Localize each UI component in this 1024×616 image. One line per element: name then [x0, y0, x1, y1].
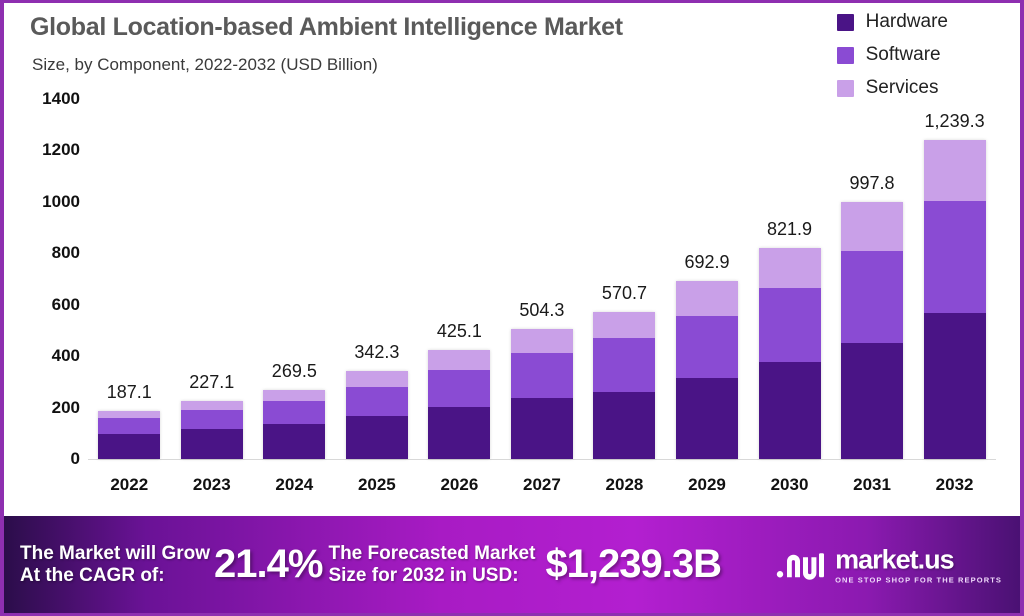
bar-group[interactable]: 997.8: [841, 99, 903, 459]
x-axis-label: 2025: [346, 475, 408, 495]
brand-name: market.us: [835, 546, 1002, 573]
bar-total-label: 692.9: [684, 252, 729, 273]
x-axis-label: 2027: [511, 475, 573, 495]
bar-total-label: 187.1: [107, 382, 152, 403]
bar-segment-hardware[interactable]: [98, 434, 160, 459]
bar-segment-services[interactable]: [759, 248, 821, 288]
bar-segment-software[interactable]: [841, 251, 903, 342]
y-axis-tick: 600: [14, 295, 80, 315]
bar-segment-hardware[interactable]: [676, 378, 738, 459]
x-axis-label: 2023: [181, 475, 243, 495]
bar-group[interactable]: 821.9: [759, 99, 821, 459]
bar-segment-services[interactable]: [841, 202, 903, 251]
bar-group[interactable]: 692.9: [676, 99, 738, 459]
bar-total-label: 821.9: [767, 219, 812, 240]
bar-group[interactable]: 504.3: [511, 99, 573, 459]
x-axis-label: 2028: [593, 475, 655, 495]
bar-segment-services[interactable]: [593, 312, 655, 337]
x-axis-label: 2022: [98, 475, 160, 495]
bar-group[interactable]: 1,239.3: [924, 99, 986, 459]
bar-segment-hardware[interactable]: [759, 362, 821, 459]
chart-card: Global Location-based Ambient Intelligen…: [0, 0, 1024, 516]
bar-total-label: 342.3: [354, 342, 399, 363]
x-axis-label: 2032: [924, 475, 986, 495]
x-axis-line: [88, 459, 996, 460]
cagr-block: The Market will Grow At the CAGR of: 21.…: [20, 542, 322, 587]
bar-stack[interactable]: [841, 202, 903, 459]
bar-stack[interactable]: [924, 140, 986, 459]
x-axis-label: 2031: [841, 475, 903, 495]
bar-segment-software[interactable]: [181, 410, 243, 429]
bar-segment-software[interactable]: [511, 353, 573, 398]
forecast-caption: The Forecasted Market Size for 2032 in U…: [328, 543, 535, 586]
bar-total-label: 269.5: [272, 361, 317, 382]
x-axis-label: 2030: [759, 475, 821, 495]
bar-segment-software[interactable]: [924, 201, 986, 313]
bar-stack[interactable]: [98, 411, 160, 459]
bar-total-label: 425.1: [437, 321, 482, 342]
y-axis-tick: 0: [14, 449, 80, 469]
bar-stack[interactable]: [676, 281, 738, 459]
bar-stack[interactable]: [181, 401, 243, 459]
bar-segment-hardware[interactable]: [841, 343, 903, 459]
infographic-root: Global Location-based Ambient Intelligen…: [0, 0, 1024, 616]
bar-total-label: 997.8: [850, 173, 895, 194]
bar-segment-hardware[interactable]: [263, 424, 325, 459]
bar-segment-software[interactable]: [428, 370, 490, 407]
y-axis-tick: 1400: [14, 89, 80, 109]
cagr-caption: The Market will Grow At the CAGR of:: [20, 543, 210, 586]
bar-group[interactable]: 342.3: [346, 99, 408, 459]
bar-segment-hardware[interactable]: [181, 429, 243, 459]
forecast-caption-line2: Size for 2032 in USD:: [328, 565, 535, 586]
bar-total-label: 1,239.3: [925, 111, 985, 132]
bar-segment-services[interactable]: [428, 350, 490, 370]
bar-segment-hardware[interactable]: [346, 416, 408, 459]
y-axis-tick: 1000: [14, 192, 80, 212]
bar-segment-hardware[interactable]: [924, 313, 986, 459]
bar-segment-hardware[interactable]: [593, 392, 655, 459]
bar-segment-services[interactable]: [924, 140, 986, 201]
cagr-caption-line2: At the CAGR of:: [20, 565, 210, 586]
plot-area: 0200400600800100012001400 187.1227.1269.…: [4, 3, 1024, 519]
y-axis-tick: 800: [14, 243, 80, 263]
bar-stack[interactable]: [428, 350, 490, 459]
bar-stack[interactable]: [593, 312, 655, 459]
bar-stack[interactable]: [263, 390, 325, 459]
bar-total-label: 227.1: [189, 372, 234, 393]
bar-group[interactable]: 425.1: [428, 99, 490, 459]
x-axis-label: 2029: [676, 475, 738, 495]
bar-segment-services[interactable]: [346, 371, 408, 387]
forecast-value: $1,239.3B: [545, 542, 721, 587]
bar-group[interactable]: 570.7: [593, 99, 655, 459]
forecast-block: The Forecasted Market Size for 2032 in U…: [328, 542, 721, 587]
bar-segment-hardware[interactable]: [428, 407, 490, 459]
bar-segment-software[interactable]: [98, 418, 160, 434]
bar-segment-services[interactable]: [511, 329, 573, 353]
x-axis-label: 2026: [428, 475, 490, 495]
bar-series-container: 187.1227.1269.5342.3425.1504.3570.7692.9…: [88, 99, 996, 459]
bar-segment-software[interactable]: [676, 316, 738, 378]
bar-segment-hardware[interactable]: [511, 398, 573, 459]
bar-segment-software[interactable]: [593, 338, 655, 392]
bar-segment-services[interactable]: [676, 281, 738, 316]
bar-group[interactable]: 269.5: [263, 99, 325, 459]
brand-logo[interactable]: market.us ONE STOP SHOP FOR THE REPORTS: [773, 546, 1002, 584]
bar-stack[interactable]: [511, 329, 573, 459]
bar-segment-services[interactable]: [98, 411, 160, 418]
bar-group[interactable]: 227.1: [181, 99, 243, 459]
forecast-caption-line1: The Forecasted Market: [328, 543, 535, 564]
bar-stack[interactable]: [346, 371, 408, 459]
bar-segment-services[interactable]: [181, 401, 243, 411]
cagr-value: 21.4%: [214, 542, 322, 587]
y-axis-tick: 200: [14, 398, 80, 418]
y-axis-tick: 400: [14, 346, 80, 366]
x-axis-labels: 2022202320242025202620272028202920302031…: [88, 469, 996, 501]
bar-segment-software[interactable]: [346, 387, 408, 416]
brand-text: market.us ONE STOP SHOP FOR THE REPORTS: [835, 546, 1002, 584]
bar-segment-software[interactable]: [263, 401, 325, 424]
footer-banner: The Market will Grow At the CAGR of: 21.…: [0, 516, 1024, 616]
x-axis-label: 2024: [263, 475, 325, 495]
y-axis-tick: 1200: [14, 140, 80, 160]
bar-group[interactable]: 187.1: [98, 99, 160, 459]
bar-segment-services[interactable]: [263, 390, 325, 401]
cagr-caption-line1: The Market will Grow: [20, 543, 210, 564]
bar-total-label: 570.7: [602, 283, 647, 304]
bar-stack[interactable]: [759, 248, 821, 459]
bar-total-label: 504.3: [519, 300, 564, 321]
market-us-logo-icon: [773, 548, 825, 582]
bar-segment-software[interactable]: [759, 288, 821, 362]
brand-tagline: ONE STOP SHOP FOR THE REPORTS: [835, 576, 1002, 584]
